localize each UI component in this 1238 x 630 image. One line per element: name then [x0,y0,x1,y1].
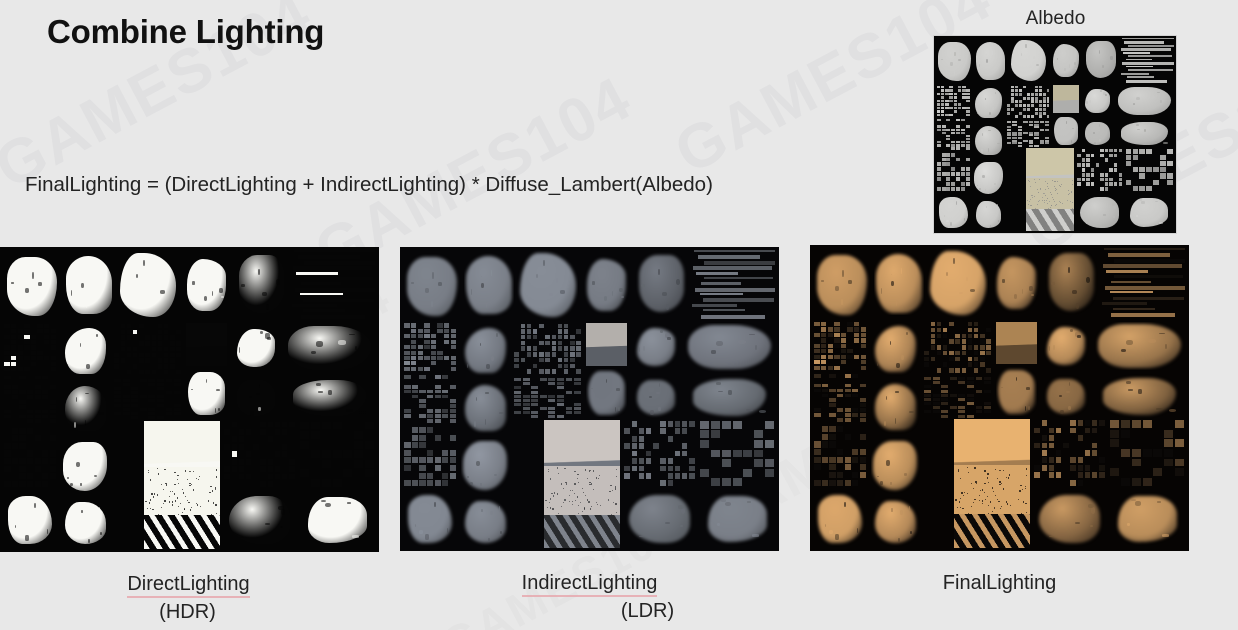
atlas-detail [861,327,866,331]
atlas-detail [946,182,950,186]
atlas-detail [1050,207,1051,208]
atlas-detail [1047,104,1050,107]
atlas-detail [937,125,941,127]
atlas-detail [154,493,155,494]
atlas-detail [841,355,846,359]
atlas-detail [1045,124,1049,126]
atlas-detail [427,395,433,399]
atlas-detail [1105,187,1108,191]
atlas-detail [754,459,763,467]
atlas-detail [174,391,181,394]
atlas-detail [4,356,9,360]
atlas-detail [1031,115,1034,118]
atlas-detail [837,389,843,393]
atlas-detail [427,419,433,423]
atlas-detail [275,422,280,428]
atlas-detail [576,346,580,350]
atlas-detail [675,451,680,457]
atlas-detail [215,504,216,505]
atlas-detail [845,374,851,378]
atlas-detail [1146,149,1152,154]
atlas-detail [427,450,433,456]
atlas-detail [42,481,48,487]
atlas-detail [404,375,410,379]
atlas-detail [545,352,549,356]
atlas-detail [1106,270,1148,273]
atlas-detail [565,482,566,483]
atlas-detail [140,408,147,411]
atlas-detail [1042,465,1047,471]
atlas-detail [31,345,36,349]
atlas-detail [1078,465,1083,471]
atlas-detail [1018,134,1022,136]
atlas-detail [37,329,42,333]
atlas-detail [354,431,363,439]
atlas-detail [359,411,366,414]
atlas-detail [545,358,549,362]
atlas-detail [974,467,975,468]
atlas-detail [845,464,851,470]
atlas-detail [404,442,410,448]
atlas-detail [1082,178,1085,182]
atlas-detail [552,341,556,345]
atlas-detail [1055,181,1056,182]
atlas-detail [675,473,680,479]
atlas-detail [937,141,941,143]
atlas-detail [4,367,9,371]
atlas-detail [196,503,197,504]
atlas-detail [158,364,162,368]
atlas-detail [1056,189,1057,190]
atlas-detail [1063,443,1068,449]
atlas-detail [1029,142,1033,144]
atlas-detail [814,349,819,353]
atlas-detail [527,369,531,373]
atlas-detail [834,333,839,337]
atlas-tile [992,251,1041,315]
atlas-detail [937,107,940,110]
atlas-detail [152,353,156,357]
atlas-detail [1153,180,1159,185]
atlas-tile [292,250,375,320]
atlas-detail [837,449,843,455]
atlas-detail [1167,149,1173,154]
atlas-detail [19,435,25,441]
atlas-rock-shape [1103,378,1176,415]
atlas-detail [844,502,846,507]
atlas-detail [1126,66,1153,67]
atlas-detail [700,293,743,295]
final-lighting-figure: FinalLighting [810,245,1189,597]
atlas-detail [1077,178,1080,182]
atlas-detail [303,299,374,302]
atlas-detail [1175,439,1184,447]
atlas-detail [694,250,775,252]
atlas-detail [121,335,125,339]
atlas-detail [1070,465,1075,471]
atlas-detail [419,427,425,433]
atlas-detail [435,395,441,399]
atlas-detail [282,474,287,480]
atlas-detail [814,374,820,378]
atlas-detail [675,421,680,427]
albedo-figure: Albedo [933,8,1178,234]
atlas-detail [24,329,29,333]
atlas-detail [418,351,423,355]
atlas-detail [653,443,658,449]
atlas-detail [1128,55,1173,57]
atlas-detail [303,309,345,311]
atlas-detail [941,114,944,117]
atlas-detail [953,258,955,264]
atlas-detail [42,473,48,479]
atlas-detail [994,183,996,185]
atlas-detail [587,499,588,500]
atlas-detail [1011,108,1014,111]
atlas-detail [1010,505,1011,506]
atlas-detail [145,358,149,362]
atlas-detail [12,428,18,434]
atlas-detail [1047,89,1050,92]
atlas-detail [1092,472,1097,478]
atlas-detail [834,366,839,370]
atlas-detail [1092,450,1097,456]
atlas-detail [814,333,819,337]
atlas-detail [937,172,941,176]
atlas-detail [1007,132,1011,134]
atlas-detail [38,282,41,286]
atlas-detail [268,481,273,487]
atlas-detail [316,341,322,346]
atlas-detail [834,327,839,331]
atlas-detail [51,367,56,371]
atlas-detail [986,351,990,355]
atlas-detail [814,355,819,359]
atlas-detail [298,255,360,258]
atlas-detail [282,422,287,428]
atlas-detail [157,395,164,398]
atlas-detail [4,415,10,419]
atlas-detail [1049,465,1054,471]
atlas-detail [1046,200,1047,201]
atlas-detail [164,358,168,362]
atlas-detail [1110,291,1153,293]
atlas-detail [675,466,680,472]
atlas-detail [152,347,156,351]
atlas-detail [641,284,645,287]
atlas-detail [660,466,665,472]
atlas-detail [191,389,193,390]
atlas-detail [951,129,955,131]
atlas-detail [411,351,416,355]
atlas-detail [1018,142,1022,144]
atlas-detail [704,277,774,280]
atlas-detail [545,369,549,373]
atlas-detail [27,415,33,419]
atlas-detail [275,466,280,472]
atlas-detail [1094,142,1096,145]
atlas-detail [1040,142,1044,144]
atlas-detail [937,144,941,146]
atlas-detail [1011,89,1014,92]
atlas-detail [1078,457,1083,463]
atlas-detail [974,362,978,366]
atlas-detail [980,345,984,349]
atlas-detail [956,119,960,121]
atlas-tile [1007,121,1051,151]
atlas-detail [557,378,564,381]
atlas-detail [192,281,195,285]
atlas-detail [176,347,180,351]
atlas-detail [435,409,441,413]
atlas-detail [1100,173,1103,177]
atlas-detail [967,467,968,468]
atlas-detail [941,100,944,103]
atlas-detail [304,277,374,280]
caption-secondary: (HDR) [0,598,379,626]
atlas-rock-shape [976,42,1005,80]
atlas-detail [662,292,666,296]
atlas-detail [1068,194,1069,195]
atlas-detail [450,473,456,479]
atlas-detail [1167,161,1173,166]
atlas-detail [123,399,130,402]
atlas-detail [139,370,143,374]
final-lighting-caption: FinalLighting [810,569,1189,597]
atlas-detail [1099,50,1100,54]
atlas-detail [658,269,660,275]
atlas-detail [411,367,416,371]
atlas-detail [27,481,33,487]
atlas-detail [814,449,820,455]
atlas-detail [877,363,878,367]
atlas-detail [1007,137,1011,139]
atlas-detail [164,347,168,351]
atlas-detail [976,390,983,393]
atlas-detail [1042,457,1047,463]
atlas-tile [404,490,457,548]
atlas-detail [942,187,946,191]
atlas-detail [210,486,211,487]
atlas-detail [418,367,423,371]
atlas-detail [570,364,574,368]
atlas-detail [961,144,965,146]
atlas-detail [1085,428,1090,434]
atlas-detail [700,421,709,429]
atlas-detail [1012,134,1016,136]
atlas-detail [548,407,555,410]
atlas-detail [1018,145,1022,147]
atlas-detail [946,144,950,146]
atlas-detail [1110,430,1119,438]
atlas-detail [260,429,265,435]
atlas-detail [160,290,165,293]
atlas-detail [539,352,543,356]
atlas-detail [1105,149,1108,153]
atlas-detail [1018,137,1022,139]
atlas-detail [941,86,944,89]
atlas-detail [943,328,947,332]
atlas-detail [701,282,741,284]
atlas-detail [1038,192,1039,193]
atlas-detail [822,457,828,463]
atlas-detail [943,345,947,349]
atlas-detail [733,450,742,458]
atlas-detail [31,362,36,366]
atlas-detail [268,436,273,442]
atlas-detail [1012,140,1016,142]
atlas-detail [821,355,826,359]
atlas-detail [427,409,433,413]
atlas-detail [419,390,425,394]
atlas-detail [845,389,851,393]
atlas-detail [845,480,851,486]
atlas-detail [451,356,456,360]
atlas-detail [404,390,410,394]
atlas-detail [946,220,949,222]
atlas-detail [618,407,620,411]
atlas-detail [961,132,965,134]
atlas-tile [299,491,375,549]
atlas-tile [64,253,113,317]
atlas-detail [333,479,342,487]
atlas-detail [437,323,442,327]
atlas-detail [500,531,502,534]
atlas-flat-surface [1053,85,1080,113]
atlas-detail [1007,126,1011,128]
atlas-detail [937,93,940,96]
atlas-detail [27,410,33,414]
atlas-detail [845,413,851,417]
atlas-detail [1086,158,1089,162]
atlas-detail [450,404,456,408]
atlas-detail [937,177,941,181]
atlas-detail [576,352,580,356]
atlas-detail [896,363,900,368]
atlas-detail [968,339,972,343]
atlas-detail [289,459,294,465]
atlas-detail [956,144,960,146]
atlas-detail [834,355,839,359]
atlas-detail [412,480,418,486]
atlas-detail [1039,100,1042,103]
atlas-detail [444,329,449,333]
atlas-detail [51,345,56,349]
atlas-tile [1116,85,1174,117]
atlas-detail [352,535,359,537]
atlas-detail [521,341,525,345]
atlas-detail [76,462,80,467]
atlas-detail [176,353,180,357]
atlas-detail [4,376,10,380]
atlas-detail [1045,121,1049,123]
atlas-detail [18,356,23,360]
atlas-rock-shape [120,253,176,317]
atlas-detail [984,406,991,409]
atlas-detail [50,450,56,456]
atlas-detail [943,351,947,355]
atlas-detail [322,422,331,430]
atlas-detail [419,530,423,534]
atlas-detail [931,334,935,338]
atlas-detail [437,329,442,333]
atlas-detail [177,497,178,498]
atlas-detail [145,353,149,357]
atlas-detail [564,352,568,356]
atlas-detail [1121,420,1130,428]
atlas-detail [841,360,846,364]
atlas-detail [1160,155,1166,160]
atlas-detail [1027,108,1030,111]
atlas-detail [1132,420,1141,428]
atlas-detail [1034,121,1038,123]
atlas-detail [533,329,537,333]
atlas-detail [1034,428,1039,434]
atlas-detail [435,435,441,441]
atlas-detail [35,376,41,380]
atlas-detail [355,346,357,351]
atlas-detail [721,499,726,502]
atlas-detail [577,496,578,497]
atlas-detail [966,135,970,137]
atlas-detail [427,480,433,486]
atlas-detail [311,450,320,458]
atlas-detail [1108,253,1170,257]
atlas-detail [639,428,644,434]
atlas-tile [284,323,375,372]
atlas-detail [166,408,173,411]
atlas-detail [1143,478,1152,486]
atlas-detail [597,504,598,505]
atlas-detail [451,334,456,338]
atlas-detail [12,458,18,464]
atlas-detail [1100,149,1103,153]
caption-secondary: (LDR) [516,597,779,625]
atlas-detail [435,390,441,394]
atlas-detail [419,457,425,463]
atlas-detail [1029,286,1033,291]
atlas-detail [847,327,852,331]
atlas-tile [404,253,461,320]
atlas-detail [114,404,121,407]
atlas-detail [527,352,531,356]
atlas-detail [424,323,429,327]
atlas-detail [968,357,972,361]
atlas-detail [941,107,944,110]
atlas-detail [311,351,315,354]
atlas-detail [966,110,969,113]
atlas-detail [987,477,988,478]
atlas-detail [1109,149,1112,153]
atlas-detail [1007,503,1008,504]
atlas-detail [1070,201,1071,202]
atlas-detail [1105,182,1108,186]
atlas-detail [958,59,960,62]
atlas-detail [1029,201,1030,202]
atlas-detail [924,390,931,393]
atlas-detail [427,390,433,394]
atlas-tile [1009,38,1048,83]
atlas-tile [61,439,110,494]
atlas-detail [956,132,960,134]
atlas-tile [1084,38,1118,81]
atlas-detail [232,436,237,442]
atlas-detail [1039,200,1040,201]
atlas-detail [566,391,573,394]
atlas-detail [949,89,952,92]
atlas-detail [725,502,731,507]
atlas-detail [937,100,940,103]
